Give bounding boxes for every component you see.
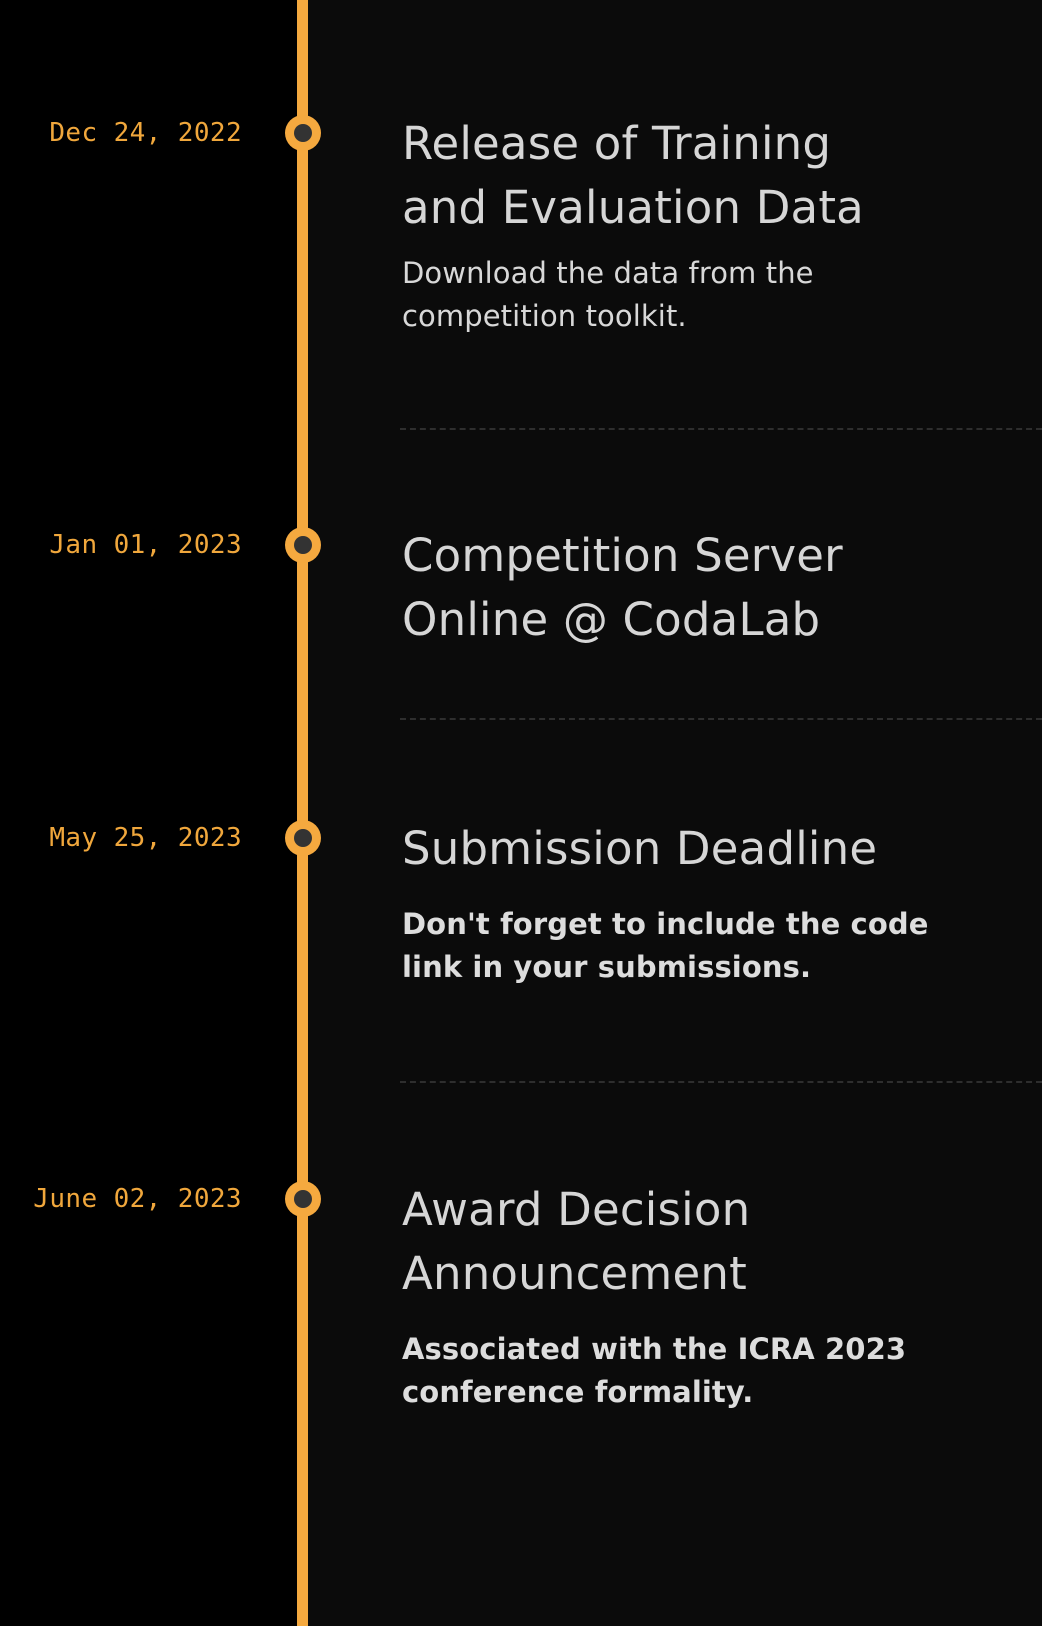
entry-content: Submission Deadline Don't forget to incl… (402, 817, 1042, 989)
entry-date: May 25, 2023 (0, 823, 242, 853)
entry-title: Competition Server Online @ CodaLab (402, 524, 1042, 652)
entry-date: Jan 01, 2023 (0, 530, 242, 560)
entry-divider (400, 428, 1042, 430)
timeline-root: Dec 24, 2022 Release of Training and Eva… (0, 0, 1042, 1626)
timeline-marker-dot[interactable] (285, 115, 321, 151)
entry-description: Download the data from the competition t… (402, 252, 1042, 338)
timeline-entries: Dec 24, 2022 Release of Training and Eva… (0, 0, 1042, 1626)
entry-description: Don't forget to include the code link in… (402, 903, 1042, 989)
entry-date: Dec 24, 2022 (0, 118, 242, 148)
timeline-marker-dot[interactable] (285, 1181, 321, 1217)
timeline-marker-dot[interactable] (285, 820, 321, 856)
entry-title: Award Decision Announcement (402, 1178, 1042, 1306)
entry-title: Release of Training and Evaluation Data (402, 112, 1042, 240)
entry-divider (400, 718, 1042, 720)
entry-content: Competition Server Online @ CodaLab (402, 524, 1042, 664)
entry-title: Submission Deadline (402, 817, 1042, 881)
entry-content: Release of Training and Evaluation Data … (402, 112, 1042, 338)
timeline-marker-dot[interactable] (285, 527, 321, 563)
entry-date: June 02, 2023 (0, 1184, 242, 1214)
entry-content: Award Decision Announcement Associated w… (402, 1178, 1042, 1414)
entry-description: Associated with the ICRA 2023 conference… (402, 1328, 1042, 1414)
entry-divider (400, 1081, 1042, 1083)
